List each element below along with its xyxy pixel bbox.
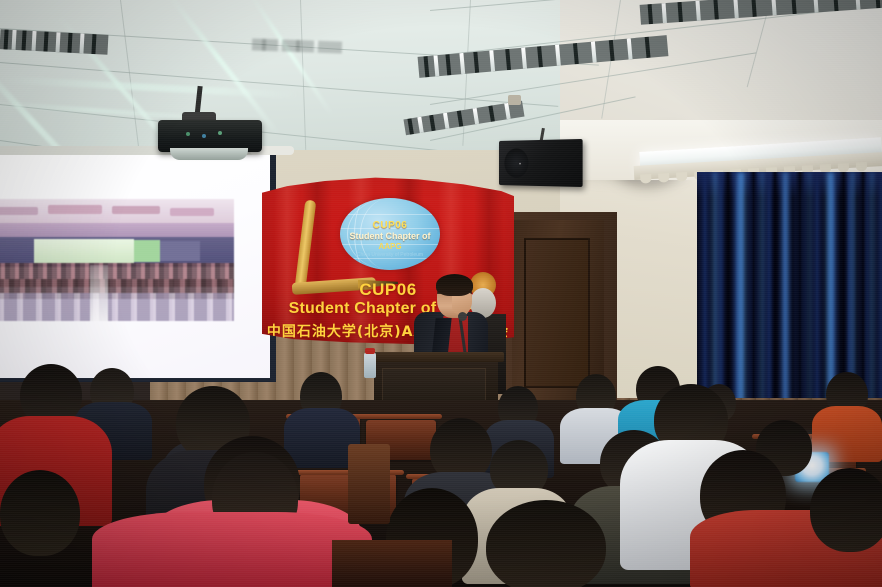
globe-text-chapter: Student Chapter of: [340, 231, 440, 241]
audience-head: [810, 468, 882, 552]
speaker-brand-mark: •: [519, 162, 521, 168]
audience-head: [486, 500, 606, 587]
presenter-hair: [436, 274, 473, 296]
projector-lens: [170, 148, 248, 160]
seat-foreground[interactable]: [348, 444, 390, 524]
globe-text-aapg: AAPG: [340, 242, 440, 251]
audience-body: [92, 512, 372, 587]
lectern-top: [368, 352, 504, 362]
projection-screen[interactable]: [0, 153, 270, 378]
microphone-icon: [458, 312, 467, 321]
door-panel: [524, 238, 590, 388]
water-bottle-cap: [365, 348, 375, 354]
speaker-box: •: [499, 139, 583, 187]
ceiling-sensor: [508, 95, 521, 105]
globe-text-cup06: CUP06: [340, 220, 440, 231]
photograph-canvas: •: [0, 0, 882, 587]
water-bottle: [364, 352, 376, 378]
globe-emblem: CUP06 Student Chapter of AAPG China Univ…: [340, 198, 440, 270]
globe-text-university: China University of Petroleum: [340, 252, 440, 258]
seat-foreground[interactable]: [332, 540, 452, 587]
audience-head: [0, 470, 80, 556]
slide-photo: [0, 199, 234, 321]
